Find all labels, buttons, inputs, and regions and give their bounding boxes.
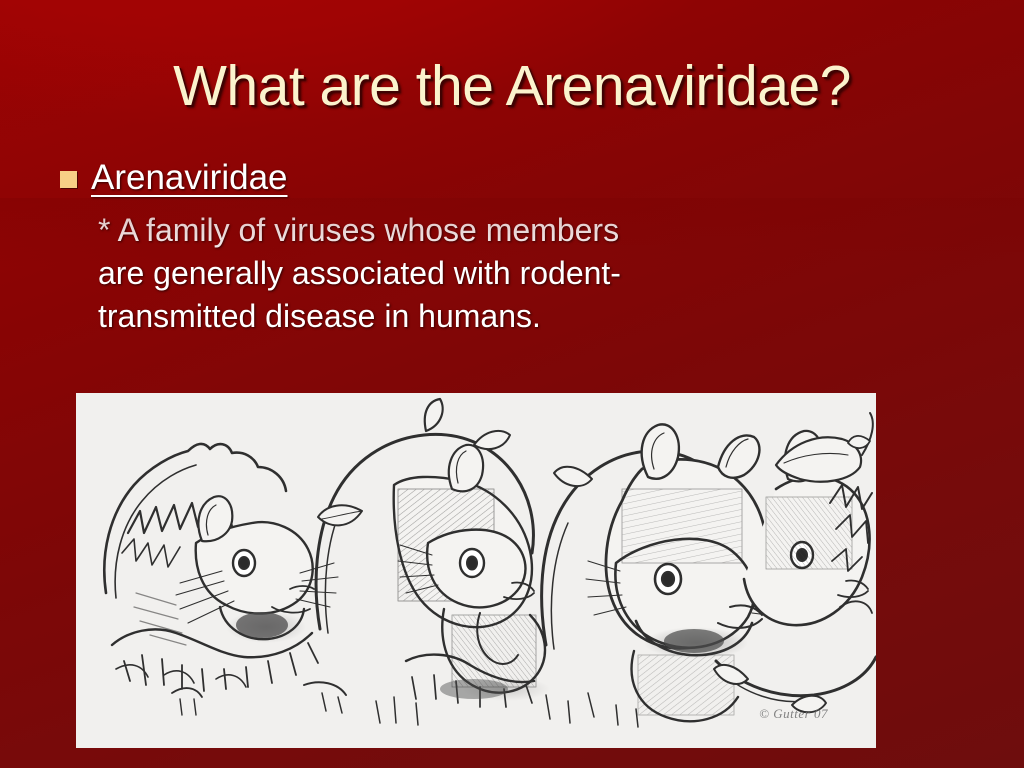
bullet-item-label: Arenaviridae	[91, 158, 288, 197]
bullet-item: Arenaviridae	[60, 158, 940, 197]
page-title: What are the Arenaviridae?	[0, 57, 1024, 117]
presentation-slide: What are the Arenaviridae? Arenaviridae …	[0, 0, 1024, 768]
body-paragraph: * A family of viruses whose members are …	[98, 209, 838, 338]
slide-body: Arenaviridae * A family of viruses whose…	[60, 158, 940, 338]
bullet-square-icon	[60, 171, 77, 188]
rodent-sketch-svg	[76, 393, 876, 748]
rodent-illustration: © Gutter 07	[76, 393, 876, 748]
artist-signature: © Gutter 07	[759, 706, 828, 722]
